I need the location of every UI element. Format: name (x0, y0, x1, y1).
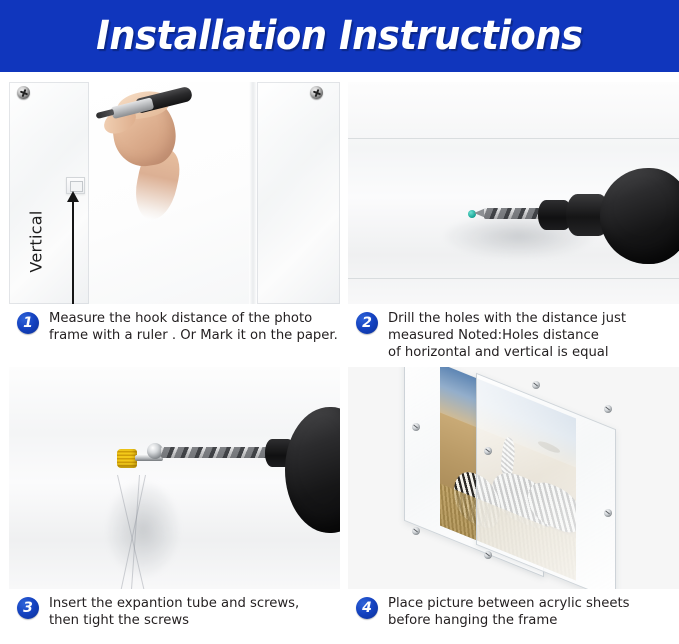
drill-bit-icon (484, 208, 540, 219)
step-2-image (348, 82, 679, 304)
step-1-caption: 1 Measure the hook distance of the photo… (9, 304, 340, 344)
drill-bit-icon (161, 447, 269, 458)
step-number-badge-1: 1 (17, 312, 39, 334)
mini-screw-icon (604, 405, 612, 413)
step-card-1: Vertical 1 Measure the hook distance of … (9, 82, 340, 361)
wall-seam (348, 138, 679, 139)
drill-shadow (107, 481, 179, 577)
step-1-image: Vertical (9, 82, 340, 304)
step-number-badge-4: 4 (356, 597, 378, 619)
steps-grid: Vertical 1 Measure the hook distance of … (0, 72, 679, 629)
measure-line (72, 200, 74, 304)
step-card-4: 4 Place picture between acrylic sheets b… (348, 367, 679, 629)
step-1-caption-text: Measure the hook distance of the photo f… (49, 310, 338, 344)
sheet-gap (249, 82, 257, 304)
screw-icon (17, 86, 30, 99)
mini-screw-icon (604, 509, 612, 517)
page-title: Installation Instructions (96, 13, 582, 59)
header-banner: Installation Instructions (0, 0, 679, 72)
step-card-3: 3 Insert the expantion tube and screws, … (9, 367, 340, 629)
mini-screw-icon (484, 447, 492, 455)
mini-screw-icon (412, 423, 420, 431)
step-2-caption-text: Drill the holes with the distance just m… (388, 310, 626, 361)
step-2-caption: 2 Drill the holes with the distance just… (348, 304, 679, 361)
step-4-caption: 4 Place picture between acrylic sheets b… (348, 589, 679, 629)
step-card-2: 2 Drill the holes with the distance just… (348, 82, 679, 361)
step-number-badge-3: 3 (17, 597, 39, 619)
step-number-badge-2: 2 (356, 312, 378, 334)
screw-icon (310, 86, 323, 99)
step-4-caption-text: Place picture between acrylic sheets bef… (388, 595, 630, 629)
mini-screw-icon (412, 527, 420, 535)
mini-screw-icon (484, 551, 492, 559)
expansion-anchor-icon (117, 449, 137, 468)
hand-with-marker (97, 90, 203, 218)
step-3-caption-text: Insert the expantion tube and screws, th… (49, 595, 299, 629)
acrylic-sheet-right (257, 82, 340, 304)
mini-screw-icon (532, 381, 540, 389)
step-3-image (9, 367, 340, 589)
step-4-image (348, 367, 679, 589)
step-3-caption: 3 Insert the expantion tube and screws, … (9, 589, 340, 629)
wall-seam (348, 278, 679, 279)
marker-tip (96, 109, 115, 119)
vertical-label: Vertical (27, 210, 46, 272)
